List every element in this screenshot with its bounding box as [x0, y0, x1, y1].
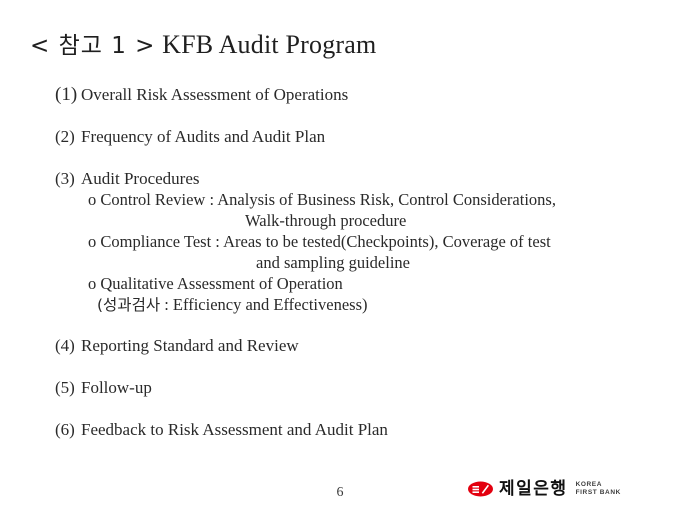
list-item-6-label: Feedback to Risk Assessment and Audit Pl… — [81, 420, 388, 439]
list-item-4: (4)Reporting Standard and Review — [0, 335, 680, 356]
page-title-korean-prefix: < 참고 1 > — [30, 33, 155, 59]
logo-korean-name: 제일은행 — [499, 480, 568, 498]
slide-canvas: < 참고 1 > KFB Audit Program (1)Overall Ri… — [0, 0, 680, 510]
list-item-6-number: (6) — [55, 419, 81, 440]
logo-english-name: KOREA FIRST BANK — [576, 481, 621, 497]
sub-item-qualitative-assessment: o Qualitative Assessment of Operation — [0, 273, 680, 294]
list-item-6: (6)Feedback to Risk Assessment and Audit… — [0, 419, 680, 440]
korean-term-seonggwagyeomsa: (성과검사 — [97, 296, 160, 314]
sub-item-compliance-test-continuation: and sampling guideline — [0, 252, 680, 273]
sub-item-compliance-test: o Compliance Test : Areas to be tested(C… — [0, 231, 680, 252]
list-item-3-number: (3) — [55, 168, 81, 189]
page-title-english: KFB Audit Program — [162, 30, 376, 59]
kfb-oval-mark-icon — [468, 481, 493, 497]
sub-item-qualitative-korean-note: (성과검사 : Efficiency and Effectiveness) — [0, 294, 680, 316]
spacer — [0, 105, 680, 126]
list-item-5-number: (5) — [55, 377, 81, 398]
list-item-4-number: (4) — [55, 335, 81, 356]
list-item-1: (1)Overall Risk Assessment of Operations — [0, 84, 680, 105]
list-item-1-number: (1) — [55, 84, 81, 105]
list-item-3: (3)Audit Procedures — [0, 168, 680, 189]
list-item-2: (2)Frequency of Audits and Audit Plan — [0, 126, 680, 147]
spacer — [0, 316, 680, 335]
list-item-1-label: Overall Risk Assessment of Operations — [81, 85, 348, 104]
kfb-logo: 제일은행 KOREA FIRST BANK — [468, 477, 621, 501]
spacer — [0, 356, 680, 377]
list-item-2-label: Frequency of Audits and Audit Plan — [81, 127, 325, 146]
list-item-5: (5)Follow-up — [0, 377, 680, 398]
sub-item-control-review: o Control Review : Analysis of Business … — [0, 189, 680, 210]
korean-note-rest: : Efficiency and Effectiveness) — [160, 295, 367, 314]
spacer — [0, 398, 680, 419]
list-item-3-label: Audit Procedures — [81, 169, 200, 188]
sub-item-control-review-continuation: Walk-through procedure — [0, 210, 680, 231]
list-item-4-label: Reporting Standard and Review — [81, 336, 299, 355]
agenda-list: (1)Overall Risk Assessment of Operations… — [0, 84, 680, 440]
page-title: < 참고 1 > KFB Audit Program — [30, 28, 376, 63]
logo-english-line2: FIRST BANK — [576, 489, 621, 497]
list-item-5-label: Follow-up — [81, 378, 152, 397]
logo-english-line1: KOREA — [576, 481, 621, 489]
spacer — [0, 147, 680, 168]
list-item-2-number: (2) — [55, 126, 81, 147]
